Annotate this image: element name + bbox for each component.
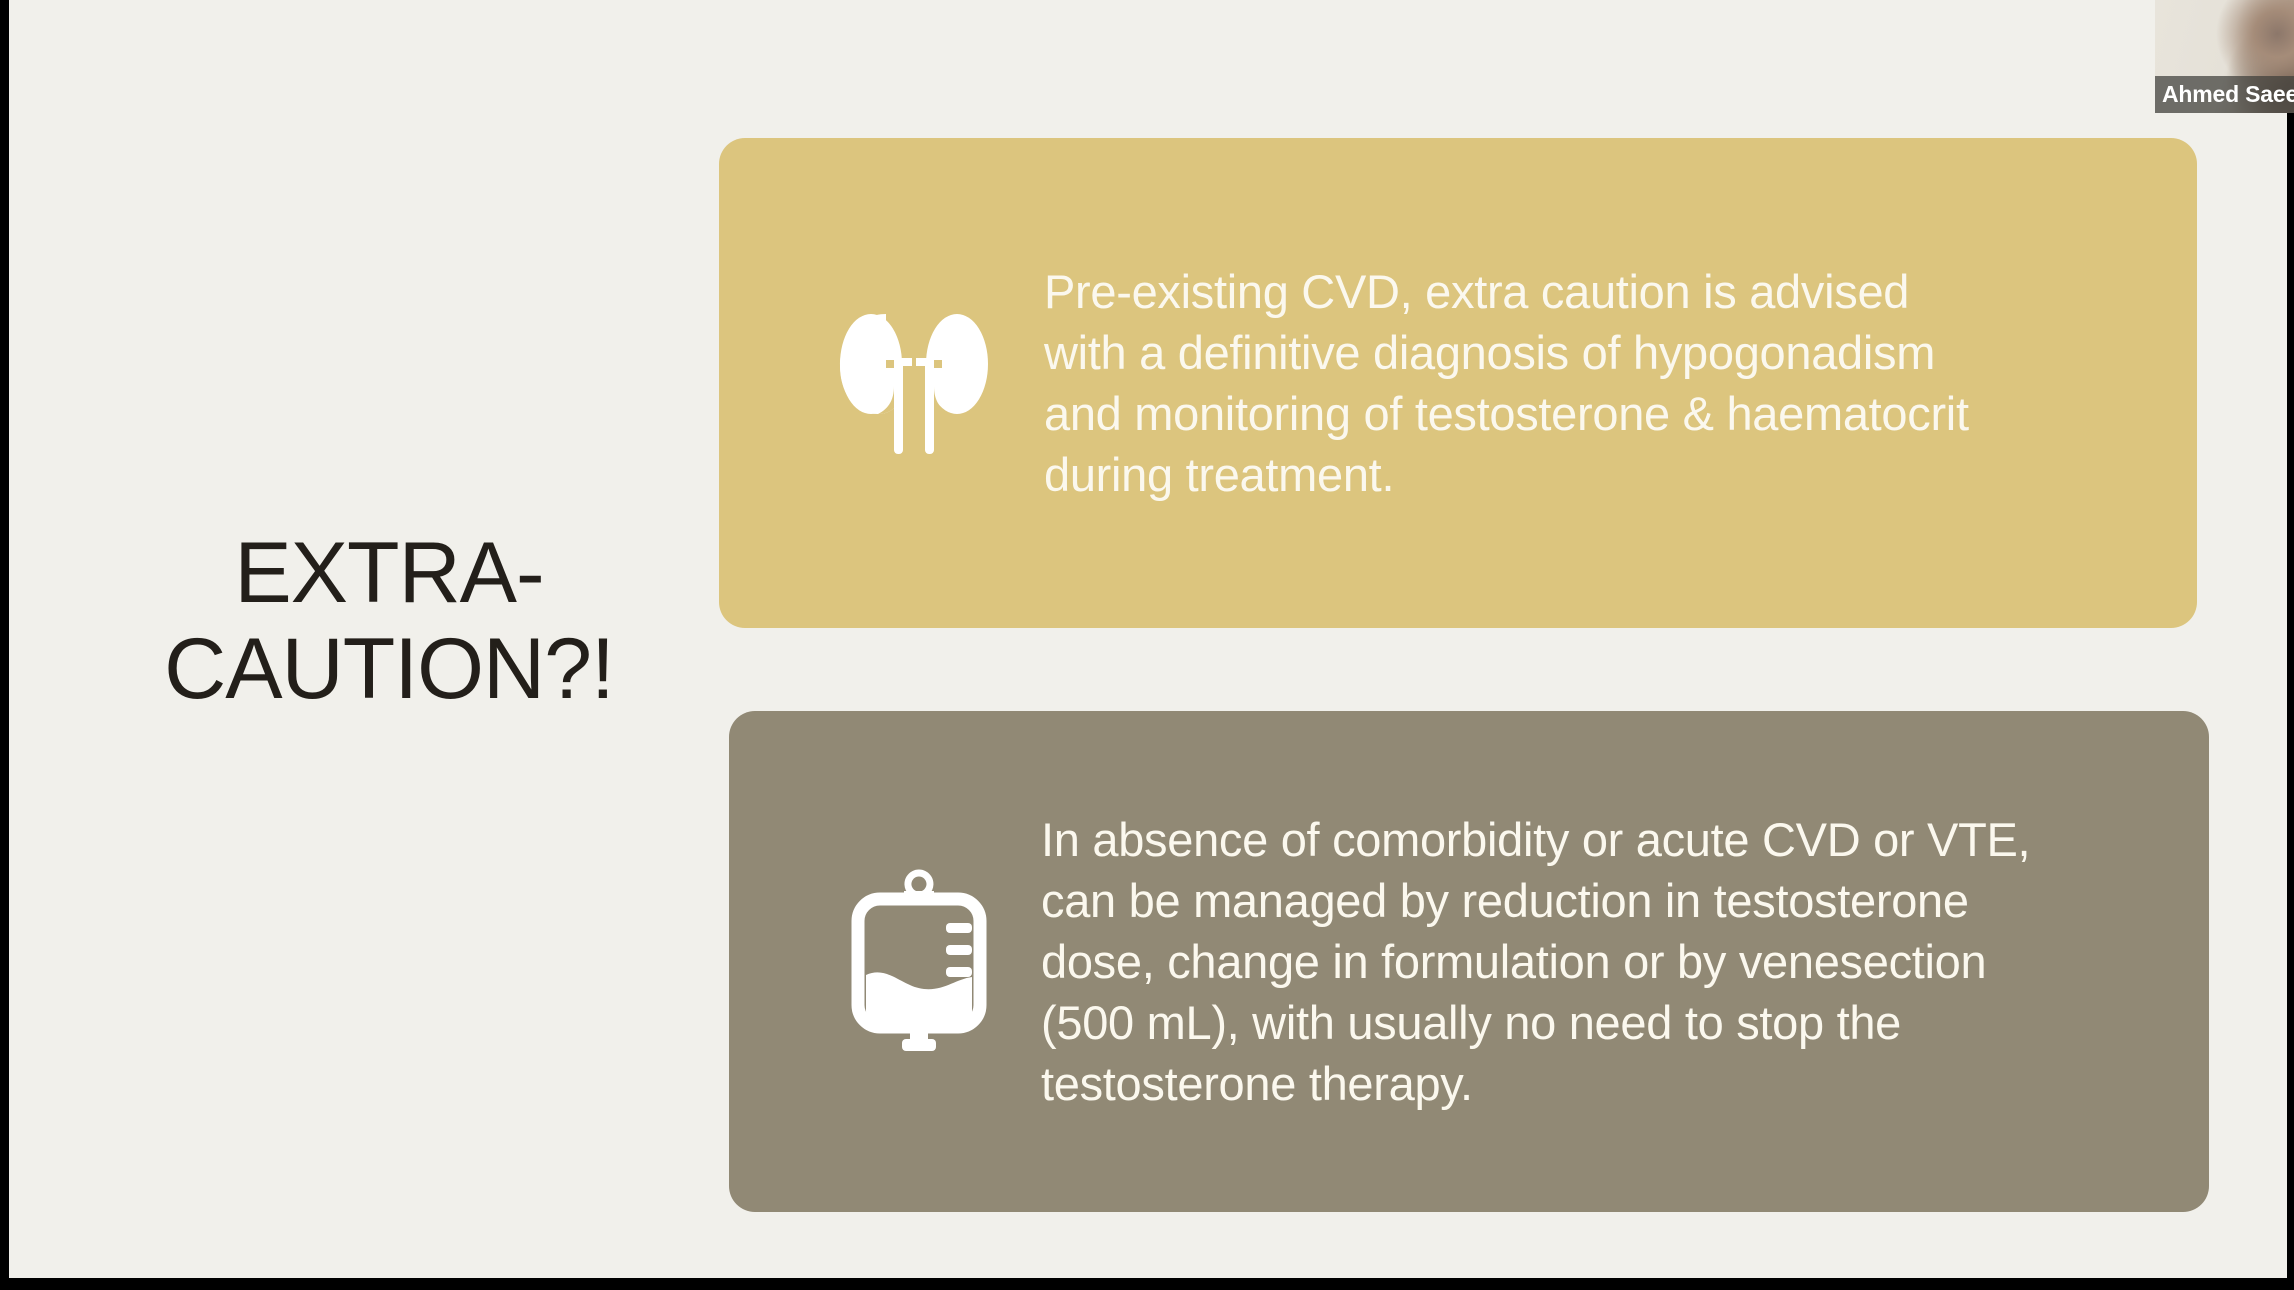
card-text: In absence of comorbidity or acute CVD o… [1019, 809, 2209, 1114]
participant-name-bar: Ahmed Saeedi [2155, 76, 2294, 113]
presentation-slide: EXTRA- CAUTION?! [9, 0, 2287, 1278]
participant-video-tile[interactable]: Ahmed Saeedi [2155, 0, 2294, 113]
card-absence-of-comorbidity: In absence of comorbidity or acute CVD o… [729, 711, 2209, 1212]
page-title: EXTRA- CAUTION?! [89, 525, 689, 718]
participant-name-label: Ahmed Saeedi [2155, 81, 2294, 108]
screen-share-frame: EXTRA- CAUTION?! [0, 0, 2294, 1290]
card-text: Pre-existing CVD, extra caution is advis… [1014, 261, 2197, 505]
iv-blood-bag-icon [819, 869, 1019, 1054]
kidneys-icon [814, 308, 1014, 458]
card-pre-existing-cvd: Pre-existing CVD, extra caution is advis… [719, 138, 2197, 628]
